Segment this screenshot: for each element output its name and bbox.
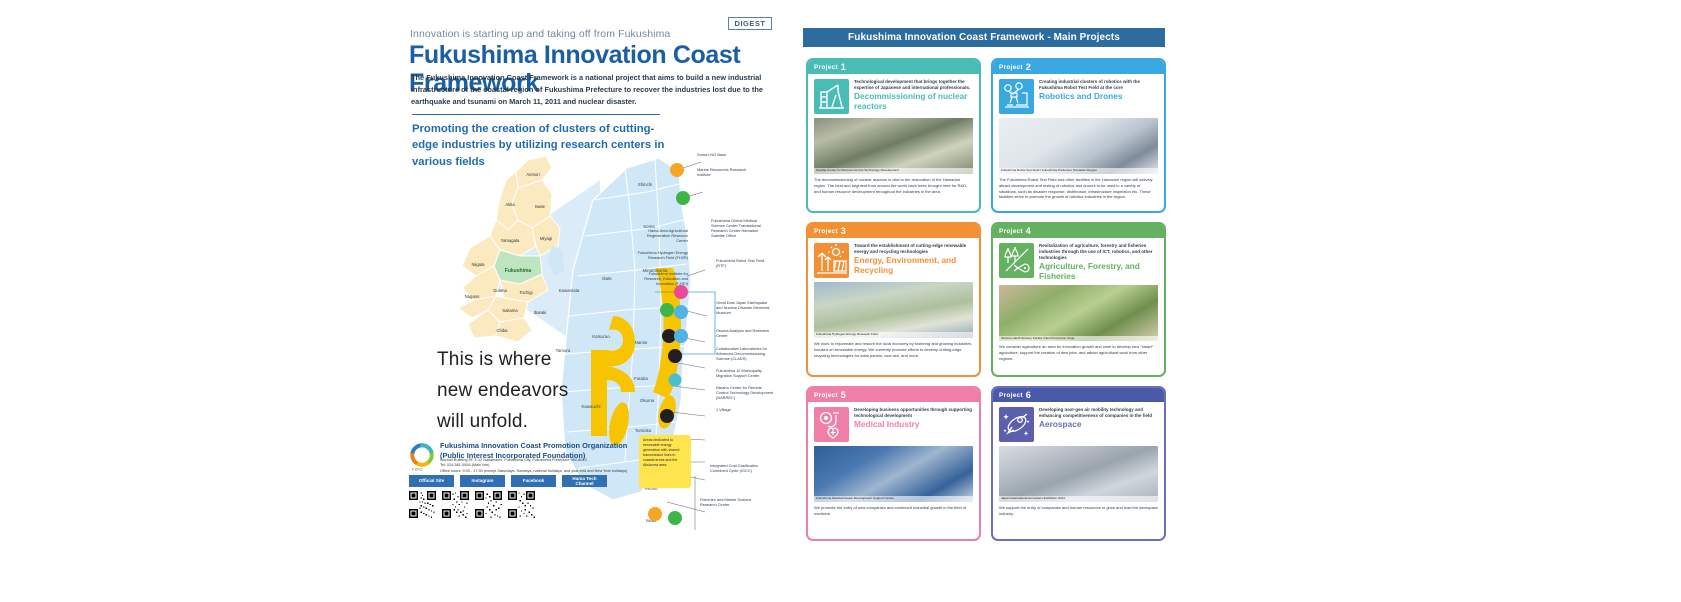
statement-line-3: will unfold. <box>437 407 568 438</box>
project-card-4-text: We consider agriculture an area for inno… <box>999 344 1158 361</box>
map-label-migration-support: Fukushima 12 Municipality Migration Supp… <box>716 368 774 378</box>
svg-text:Kawauchi: Kawauchi <box>581 404 600 409</box>
svg-text:Okuma: Okuma <box>640 398 655 403</box>
statement-line-1: This is where <box>437 345 568 376</box>
rocket-icon <box>999 407 1034 442</box>
project-card-4[interactable]: Project 4 <box>991 222 1166 377</box>
project-card-2-title: Robotics and Drones <box>1039 92 1158 101</box>
agriculture-icon <box>999 243 1034 278</box>
project-card-4-label: Project <box>999 228 1023 235</box>
map-label-hama-agri: Hama Area Agricultural Regeneration Rese… <box>640 228 688 243</box>
sns-button-official-site[interactable]: Official Site <box>409 475 454 487</box>
qr-code-row <box>409 491 535 518</box>
fipo-logo-label: FIPO <box>412 467 423 472</box>
sns-button-hama-tech-channel[interactable]: Hama Tech Channel <box>562 475 607 487</box>
map-label-fisheries-marine: Fisheries and Marine Science Research Ce… <box>700 497 762 507</box>
qr-code-facebook[interactable] <box>475 491 502 518</box>
project-card-2-photo-caption: Fukushima Robot Test Field / Fukushima P… <box>999 168 1158 174</box>
decommissioning-icon <box>814 79 849 114</box>
map-callout-box: Areas dedicated to renewable energy gene… <box>639 435 691 488</box>
map-label-robot-test-field: Fukushima Robot Test Field (RTF) <box>716 258 772 268</box>
svg-text:Iitate: Iitate <box>602 276 612 281</box>
project-card-3-label: Project <box>814 228 838 235</box>
project-card-1-header: Project 1 <box>808 60 979 74</box>
project-card-3-photo-caption: Fukushima Hydrogen Energy Research Field <box>814 332 973 338</box>
svg-text:Ibaraki: Ibaraki <box>534 310 547 315</box>
map-label-marine-resources: Marine Resources Research Institute <box>697 167 759 177</box>
project-card-4-title: Agriculture, Forestry, and Fisheries <box>1039 262 1158 281</box>
project-card-3-header: Project 3 <box>808 224 979 238</box>
statement-block: This is where new endeavors will unfold. <box>437 345 568 437</box>
map-label-j-village: J-Village <box>716 407 756 412</box>
organization-contact: Nozomi Building 5F, 1-12 Nakamachi, Fuku… <box>440 458 627 474</box>
sns-button-row: Official Site Instagram Facebook Hama Te… <box>409 475 607 487</box>
map-label-okuma-analysis: Okuma Analysis and Research Center <box>716 328 774 338</box>
map-label-global-medical: Fukushima Global Medical Science Center … <box>711 218 771 238</box>
project-card-2-header: Project 2 <box>993 60 1164 74</box>
project-card-2-number: 2 <box>1026 63 1031 72</box>
map-label-hydrogen-energy: Fukushima Hydrogen Energy Research Field… <box>630 250 688 260</box>
left-page: DIGEST Innovation is starting up and tak… <box>0 0 800 602</box>
project-card-1-photo-caption: Naraha Center for Remote Control Technol… <box>814 168 973 174</box>
drone-icon <box>999 79 1034 114</box>
project-card-1-title: Decommissioning of nuclear reactors <box>854 92 973 111</box>
svg-text:Miyagi: Miyagi <box>540 236 552 241</box>
svg-text:Akita: Akita <box>505 202 515 207</box>
project-card-6-title: Aerospace <box>1039 420 1158 429</box>
project-card-5-kicker: Developing business opportunities throug… <box>854 407 973 419</box>
svg-text:Namie: Namie <box>635 340 648 345</box>
project-card-1-text: The decommissioning of nuclear reactors … <box>814 177 973 194</box>
svg-text:Katsurao: Katsurao <box>592 334 610 339</box>
project-card-4-header: Project 4 <box>993 224 1164 238</box>
digest-badge: DIGEST <box>728 17 772 30</box>
qr-code-hama-tech-channel[interactable] <box>508 491 535 518</box>
project-card-5-text: We promote the entry of new companies an… <box>814 505 973 517</box>
project-card-6-label: Project <box>999 392 1023 399</box>
map-label-igcc: Integrated Coal Gasification Combined Cy… <box>710 463 772 473</box>
sns-button-instagram[interactable]: Instagram <box>460 475 505 487</box>
project-card-5-title: Medical Industry <box>854 420 973 429</box>
energy-icon <box>814 243 849 278</box>
project-card-1-label: Project <box>814 64 838 71</box>
svg-text:Tochigi: Tochigi <box>519 290 532 295</box>
project-card-1-kicker: Technological development that brings to… <box>854 79 973 91</box>
project-card-2[interactable]: Project 2 <box>991 58 1166 213</box>
map-label-memorial-museum: Great East Japan Earthquake and Nuclear … <box>716 300 774 315</box>
project-card-6-photo: Japan International Aerospace Exhibition… <box>999 446 1158 502</box>
map-label-f-rei: Fukushima Institute for Research, Educat… <box>635 271 688 286</box>
project-card-3-photo: Fukushima Hydrogen Energy Research Field <box>814 282 973 338</box>
project-card-6-text: We support the entry of companies and hu… <box>999 505 1158 517</box>
map-label-clads: Collaborative Laboratories for Advanced … <box>716 346 776 361</box>
medical-icon <box>814 407 849 442</box>
project-card-6-kicker: Developing next-gen air mobility technol… <box>1039 407 1158 419</box>
project-card-6-number: 6 <box>1026 391 1031 400</box>
project-card-2-text: The Fukushima Robot Test Field and other… <box>999 177 1158 200</box>
project-card-3[interactable]: Project 3 <box>806 222 981 377</box>
svg-text:Aomori: Aomori <box>526 172 539 177</box>
svg-text:Chiba: Chiba <box>497 328 509 333</box>
divider <box>412 114 660 115</box>
svg-text:Shinchi: Shinchi <box>638 182 652 187</box>
svg-text:Niigata: Niigata <box>471 262 485 267</box>
svg-text:Nagano: Nagano <box>465 294 480 299</box>
svg-text:Iwate: Iwate <box>535 204 546 209</box>
project-card-4-number: 4 <box>1026 227 1031 236</box>
project-card-6[interactable]: Project 6 <box>991 386 1166 541</box>
svg-text:Yamagata: Yamagata <box>501 238 520 243</box>
project-card-4-photo-caption: Okuma-machi Nursery Facility (New Produc… <box>999 336 1158 342</box>
main-projects-header: Fukushima Innovation Coast Framework - M… <box>803 28 1165 47</box>
svg-text:Kawamata: Kawamata <box>559 288 580 293</box>
project-card-1-number: 1 <box>841 63 846 72</box>
map-label-narrec: Naraha Center for Remote Control Technol… <box>716 385 774 400</box>
project-card-6-header: Project 6 <box>993 388 1164 402</box>
lead-paragraph: The Fukushima Innovation Coast Framework… <box>411 72 773 108</box>
qr-code-instagram[interactable] <box>442 491 469 518</box>
project-card-4-kicker: Revitalization of agriculture, forestry … <box>1039 243 1158 261</box>
project-card-5[interactable]: Project 5 <box>806 386 981 541</box>
brochure-page: DIGEST Innovation is starting up and tak… <box>0 0 1681 602</box>
project-card-3-kicker: Toward the establishment of cutting-edge… <box>854 243 973 255</box>
project-card-2-photo: Fukushima Robot Test Field / Fukushima P… <box>999 118 1158 174</box>
project-card-6-photo-caption: Japan International Aerospace Exhibition… <box>999 496 1158 502</box>
project-card-3-number: 3 <box>841 227 846 236</box>
project-card-3-text: We work to rejuvenate and restore the lo… <box>814 341 973 358</box>
svg-text:Tomioka: Tomioka <box>635 428 652 433</box>
sns-button-facebook[interactable]: Facebook <box>511 475 556 487</box>
statement-line-2: new endeavors <box>437 376 568 407</box>
svg-text:Futaba: Futaba <box>634 376 648 381</box>
project-card-3-title: Energy, Environment, and Recycling <box>854 256 973 275</box>
qr-code-official-site[interactable] <box>409 491 436 518</box>
organization-hours: Office hours: 9:00 - 17:30 (except Satur… <box>440 469 627 474</box>
map-label-soma-lng: Soma LNG Base <box>697 152 726 157</box>
svg-text:Saitama: Saitama <box>502 308 518 313</box>
tagline: Innovation is starting up and taking off… <box>410 28 670 40</box>
svg-text:Gunma: Gunma <box>493 288 507 293</box>
project-card-2-kicker: Creating industrial clusters of robotics… <box>1039 79 1158 91</box>
project-card-5-header: Project 5 <box>808 388 979 402</box>
svg-text:Fukushima: Fukushima <box>505 268 532 274</box>
organization-name-line1: Fukushima Innovation Coast Promotion Org… <box>440 441 627 451</box>
project-card-1-photo: Naraha Center for Remote Control Technol… <box>814 118 973 174</box>
fipo-logo-icon <box>409 442 435 468</box>
right-page: Fukushima Innovation Coast Framework - M… <box>800 0 1681 602</box>
project-card-2-label: Project <box>999 64 1023 71</box>
project-card-5-photo-caption: Fukushima Medical Device Development Sup… <box>814 496 973 502</box>
project-card-5-number: 5 <box>841 391 846 400</box>
project-card-5-label: Project <box>814 392 838 399</box>
project-card-4-photo: Okuma-machi Nursery Facility (New Produc… <box>999 285 1158 341</box>
project-card-5-photo: Fukushima Medical Device Development Sup… <box>814 446 973 502</box>
project-card-1[interactable]: Project 1 <box>806 58 981 213</box>
